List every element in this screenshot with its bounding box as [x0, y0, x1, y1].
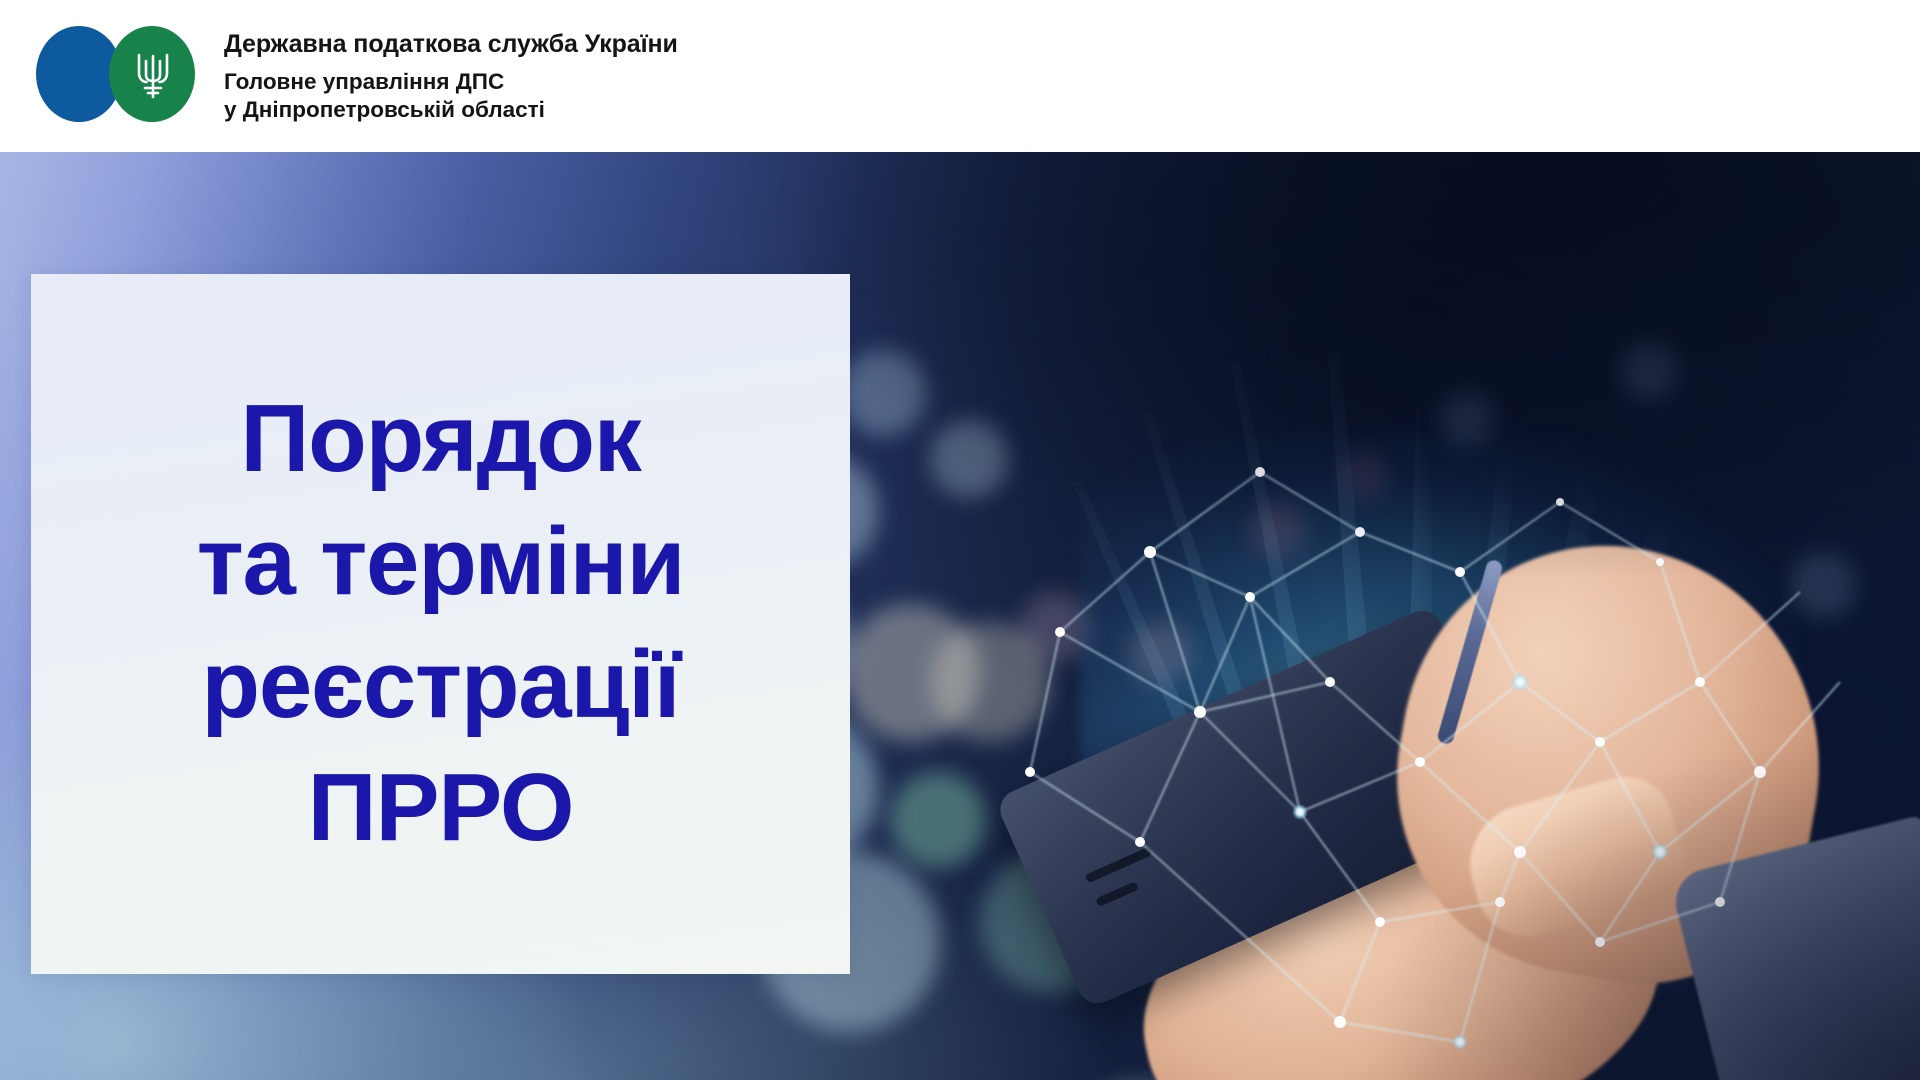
- slide-root: Державна податкова служба України Головн…: [0, 0, 1920, 1080]
- header-bar: Державна податкова служба України Головн…: [0, 0, 1920, 152]
- dps-logo: [36, 26, 200, 122]
- organization-name: Державна податкова служба України: [224, 30, 1124, 59]
- ukraine-trident-icon: [132, 48, 174, 102]
- header-text-block: Державна податкова служба України Головн…: [224, 30, 1124, 124]
- network-constellation: [1000, 382, 1880, 1080]
- department-name: Головне управління ДПС у Дніпропетровськ…: [224, 68, 1124, 125]
- slide-title: Порядок та терміни реєстрації ПРРО: [175, 378, 707, 870]
- title-card: Порядок та терміни реєстрації ПРРО: [31, 274, 850, 974]
